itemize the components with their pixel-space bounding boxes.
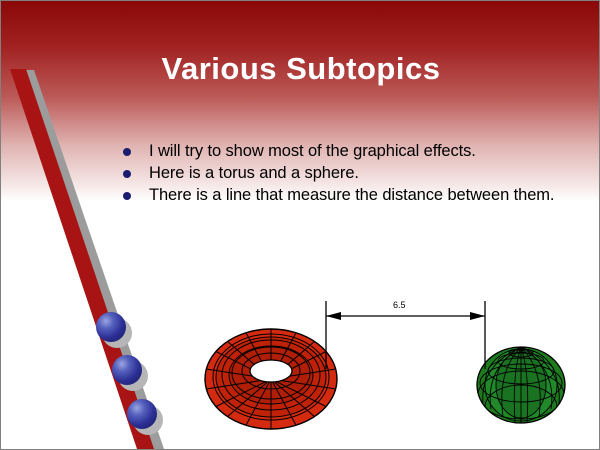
- ball-3: [127, 399, 157, 429]
- list-item-label: There is a line that measure the distanc…: [149, 185, 563, 206]
- arrowhead-left: [326, 312, 341, 320]
- list-item: I will try to show most of the graphical…: [123, 141, 563, 162]
- torus-body: [205, 329, 337, 429]
- bullet-dot-icon: [123, 163, 149, 178]
- torus-hole: [250, 360, 292, 382]
- list-item-label: Here is a torus and a sphere.: [149, 163, 563, 184]
- distance-dimension-line: [319, 297, 509, 377]
- bullet-dot-icon: [123, 141, 149, 156]
- list-item: Here is a torus and a sphere.: [123, 163, 563, 184]
- ball-2: [112, 355, 142, 385]
- dimension-value-label: 6.5: [393, 300, 406, 310]
- list-item: There is a line that measure the distanc…: [123, 185, 563, 206]
- bullet-list: I will try to show most of the graphical…: [123, 141, 563, 207]
- ball-1: [96, 312, 126, 342]
- sphere-pole: [517, 347, 525, 352]
- arrowhead-right: [470, 312, 485, 320]
- page-title: Various Subtopics: [1, 51, 600, 87]
- bullet-dot-icon: [123, 185, 149, 200]
- presentation-slide: Various Subtopics I will try to show mos…: [0, 0, 600, 450]
- list-item-label: I will try to show most of the graphical…: [149, 141, 563, 162]
